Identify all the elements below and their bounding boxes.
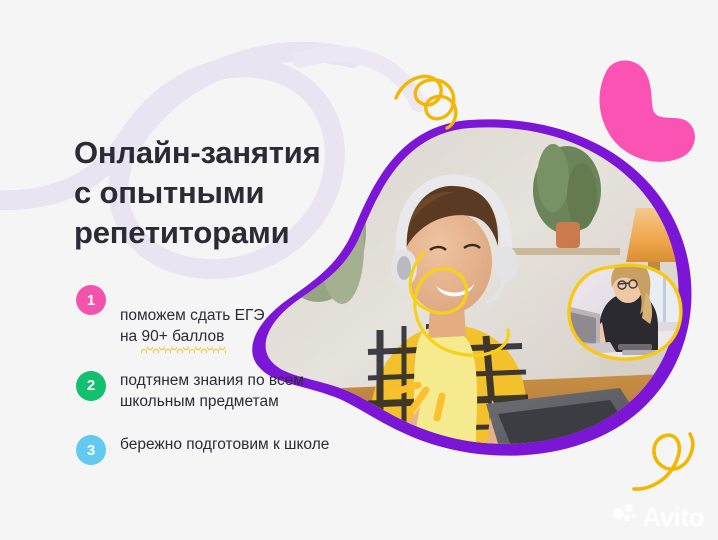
yellow-dashes-decoration bbox=[392, 385, 442, 418]
benefit-text-underlined: 90+ баллов bbox=[142, 326, 225, 347]
list-item: 2 подтянем знания по всем школьным предм… bbox=[76, 369, 386, 412]
promo-banner: Онлайн-занятия с опытными репетиторами bbox=[0, 0, 718, 540]
page-title: Онлайн-занятия с опытными репетиторами bbox=[74, 133, 374, 253]
list-item: 3 бережно подготовим к школе bbox=[76, 433, 386, 465]
list-item: 1 поможем сдать ЕГЭ на 90+ баллов bbox=[76, 283, 386, 348]
benefit-number-badge: 2 bbox=[76, 371, 106, 401]
avito-dots-icon bbox=[613, 504, 639, 530]
benefit-text: подтянем знания по всем школьным предмет… bbox=[120, 369, 304, 412]
avito-wordmark: Avito bbox=[642, 504, 704, 530]
yellow-swirl-decoration bbox=[634, 434, 693, 489]
inset-yellow-outline bbox=[569, 265, 681, 359]
benefit-number-badge: 3 bbox=[76, 435, 106, 465]
yellow-cable-squiggle bbox=[410, 252, 508, 355]
avito-watermark: Avito bbox=[613, 504, 704, 530]
tutor-inset-photo bbox=[560, 255, 690, 370]
yellow-curl-decoration bbox=[396, 76, 456, 128]
benefit-text: бережно подготовим к школе bbox=[120, 433, 329, 455]
benefits-list: 1 поможем сдать ЕГЭ на 90+ баллов 2 подт… bbox=[76, 283, 386, 465]
benefit-text: поможем сдать ЕГЭ на 90+ баллов bbox=[120, 283, 265, 348]
benefit-number-badge: 1 bbox=[76, 285, 106, 315]
pink-blob-decoration bbox=[600, 60, 695, 161]
